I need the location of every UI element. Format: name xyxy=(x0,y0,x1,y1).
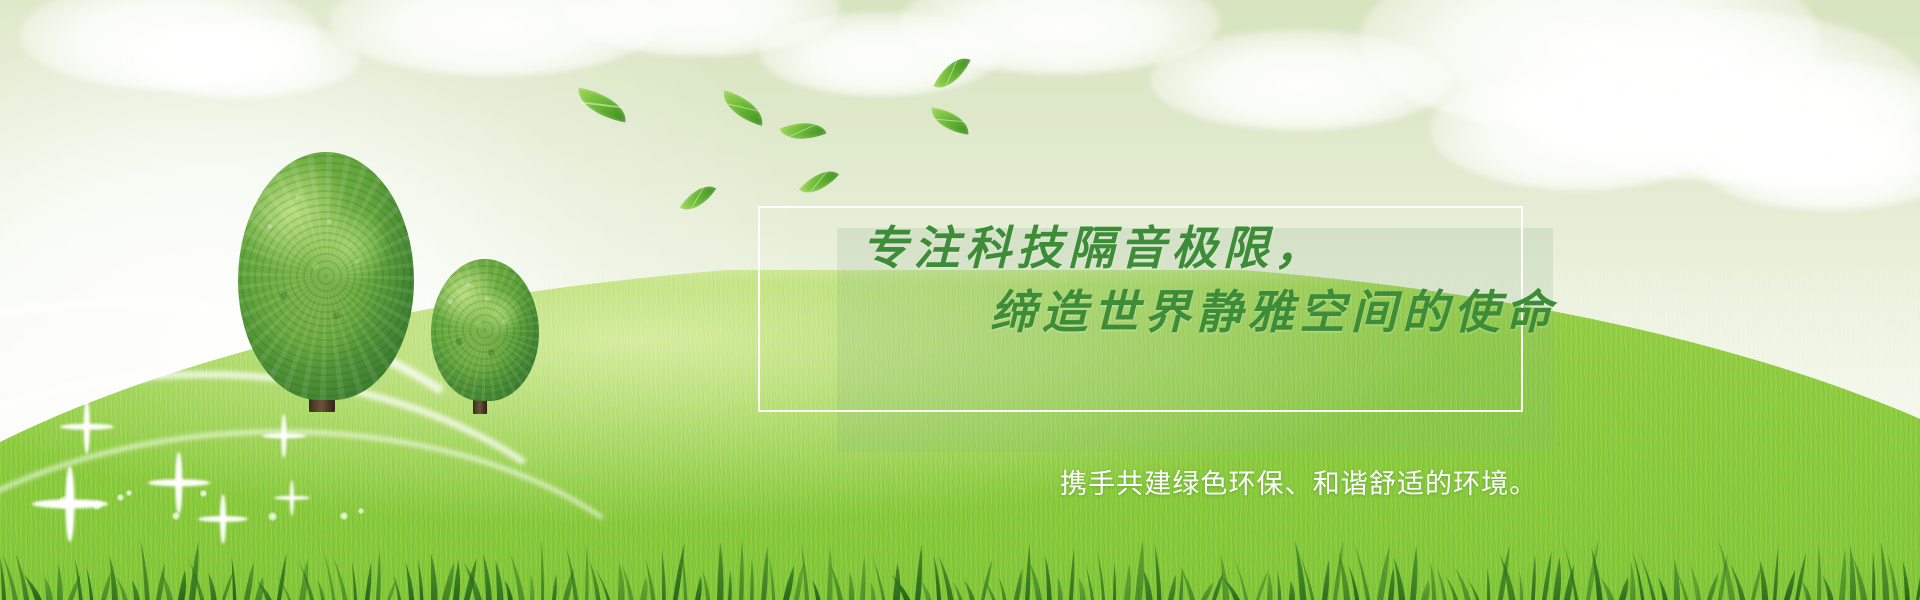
tree-large-foliage-texture xyxy=(238,152,414,400)
grass-blade xyxy=(1690,564,1701,600)
grass-blade xyxy=(1124,563,1131,600)
grass-blade xyxy=(702,570,710,600)
grass-blade xyxy=(1872,551,1875,600)
grass-blade xyxy=(332,555,347,600)
grass-blade xyxy=(352,561,357,600)
grass-blade xyxy=(1410,545,1417,600)
grass-blade xyxy=(939,556,954,600)
grass-blade xyxy=(530,573,534,600)
grass-blade xyxy=(1520,571,1524,600)
grass-blade xyxy=(323,547,336,600)
grass-blade xyxy=(590,561,601,600)
grass-blade xyxy=(1143,569,1153,600)
grass-blade xyxy=(717,542,723,600)
tree-large-canopy xyxy=(238,152,414,400)
grass-blade xyxy=(86,567,93,600)
grass-blade xyxy=(1277,571,1281,600)
grass-blade xyxy=(1531,554,1536,600)
grass-blade xyxy=(1658,577,1668,600)
grass-blade xyxy=(1339,552,1350,600)
grass-blade xyxy=(505,580,513,600)
grass-blade xyxy=(541,540,544,600)
grass-blade xyxy=(140,540,149,600)
grass-blade xyxy=(1850,544,1856,600)
grass-blade xyxy=(1421,580,1430,600)
grass-blade xyxy=(618,562,625,600)
grass-blade xyxy=(1267,572,1273,600)
grass-blade xyxy=(496,560,504,600)
grass-blade xyxy=(1430,561,1436,600)
grass-blade xyxy=(1155,544,1162,600)
grass-blade xyxy=(1135,539,1144,600)
grass-blade xyxy=(1045,555,1052,600)
grass-blade xyxy=(783,565,794,600)
eco-hero-banner: 专注科技隔音极限， 缔造世界静雅空间的使命 携手共建绿色环保、和谐舒适的环境。 xyxy=(0,0,1920,600)
grass-blade xyxy=(1348,565,1359,600)
grass-blade xyxy=(1839,548,1846,600)
grass-blade xyxy=(1289,581,1295,600)
grass-blade xyxy=(1455,567,1471,600)
grass-blade xyxy=(1069,548,1074,600)
grass-blade xyxy=(1773,547,1778,600)
grass-blade xyxy=(1823,576,1834,600)
grass-blade xyxy=(1619,577,1628,600)
grass-blade xyxy=(1880,541,1889,600)
grass-blade xyxy=(860,556,866,600)
grass-blade xyxy=(277,553,287,600)
grass-blade xyxy=(1916,550,1920,600)
grass-blade xyxy=(1751,563,1762,600)
grass-blade xyxy=(376,550,381,600)
grass-blade xyxy=(15,552,29,600)
grass-blade xyxy=(57,564,63,600)
grass-blade xyxy=(132,580,140,600)
grass-blade xyxy=(827,546,833,600)
grass-blade xyxy=(1707,572,1719,600)
grass-blade xyxy=(769,555,775,600)
grass-blade xyxy=(1394,557,1406,600)
grass-blade xyxy=(640,576,648,600)
grass-blade xyxy=(510,553,525,600)
grass-blade xyxy=(431,553,438,600)
banner-subtitle: 携手共建绿色环保、和谐舒适的环境。 xyxy=(1060,462,1537,501)
grass-blade xyxy=(178,570,186,600)
grass-blade xyxy=(453,560,460,600)
grass-blade xyxy=(999,577,1007,600)
grass-blade xyxy=(1388,567,1394,600)
grass-blade xyxy=(1487,568,1490,600)
grass-blade xyxy=(934,554,942,600)
grass-blade xyxy=(418,559,424,600)
grass-blade xyxy=(1097,550,1105,600)
grass-blade xyxy=(1058,577,1063,600)
grass-blade xyxy=(1113,563,1116,600)
tree-small-canopy xyxy=(431,259,539,401)
grass-blade xyxy=(45,577,53,600)
grass-blade xyxy=(750,558,754,600)
grass-blade xyxy=(952,581,962,600)
grass-blade xyxy=(849,571,854,600)
grass-blade xyxy=(317,579,325,600)
grass-blade xyxy=(1014,568,1022,600)
grass-blade xyxy=(1760,560,1768,600)
grass-blade xyxy=(1542,551,1552,600)
grass-blade xyxy=(365,562,371,600)
grass-blade xyxy=(1377,546,1390,600)
grass-blade xyxy=(1817,544,1821,600)
grass-blade xyxy=(101,571,111,600)
grass-blade xyxy=(662,550,666,600)
grass-blade xyxy=(1630,561,1636,600)
grass-blade xyxy=(682,547,688,600)
grass-blade xyxy=(1903,560,1910,600)
grass-blade xyxy=(1168,575,1176,600)
grass-blade xyxy=(964,580,975,600)
grass-blade xyxy=(1322,560,1329,600)
grass-blade xyxy=(1085,565,1094,600)
grass-blade xyxy=(1795,552,1806,600)
grass-blade xyxy=(1888,555,1899,600)
grass-blade xyxy=(483,553,492,600)
grass-blade xyxy=(222,570,234,600)
foreground-grass-blades xyxy=(0,528,1920,600)
grass-blade xyxy=(1030,562,1043,600)
grass-blade xyxy=(1553,557,1561,600)
grass-blade xyxy=(1445,575,1458,600)
grass-blade xyxy=(871,582,876,600)
grass-blade xyxy=(1437,566,1447,600)
grass-blade xyxy=(1201,582,1213,600)
tree-small-foliage-texture xyxy=(431,259,539,401)
grass-blade xyxy=(915,545,922,600)
grass-blade xyxy=(812,580,820,600)
grass-blade xyxy=(1784,570,1795,600)
grass-blade xyxy=(1256,569,1269,600)
grass-blade xyxy=(552,574,557,600)
grass-blade xyxy=(673,543,685,600)
grass-blade xyxy=(75,558,83,600)
grass-blade xyxy=(921,581,931,600)
grass-blade xyxy=(406,563,414,600)
grass-blade xyxy=(739,540,744,600)
grass-blade xyxy=(585,543,589,600)
grass-blade xyxy=(1674,558,1680,600)
grass-blade xyxy=(244,562,254,600)
headline-line-2: 缔造世界静雅空间的使命 xyxy=(990,276,1557,342)
grass-blade xyxy=(728,570,732,600)
grass-blade xyxy=(695,576,702,600)
grass-blade xyxy=(1802,581,1811,600)
grass-blade xyxy=(231,556,236,600)
grass-blade xyxy=(1601,578,1615,600)
grass-blade xyxy=(1025,543,1030,600)
grass-blade xyxy=(208,573,217,600)
grass-blade xyxy=(442,562,454,600)
grass-blade xyxy=(1079,577,1086,600)
headline-line-1: 专注科技隔音极限， xyxy=(862,212,1326,278)
grass-blade xyxy=(761,546,768,600)
grass-blade xyxy=(794,562,803,600)
